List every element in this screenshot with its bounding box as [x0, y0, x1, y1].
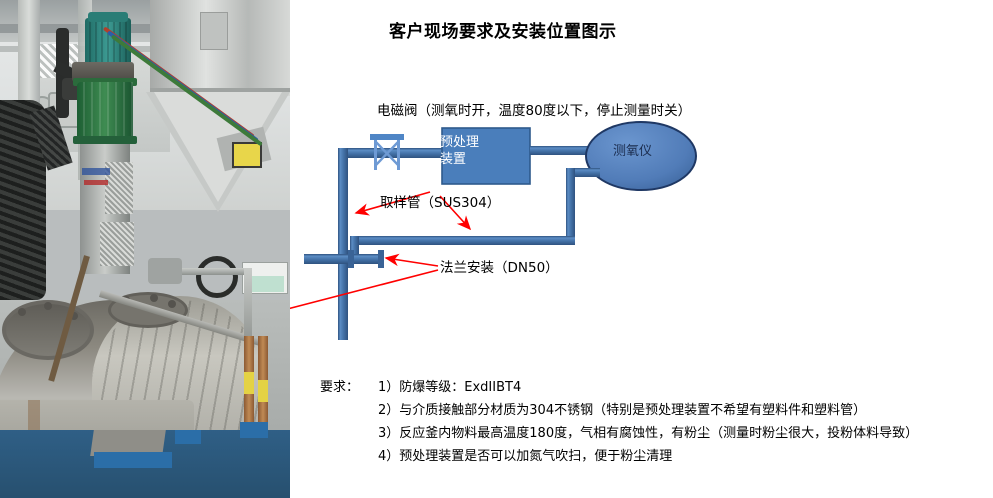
photo-hazard-tag [232, 142, 262, 168]
photo-motor-cap [88, 12, 128, 22]
photo-equipment-tag [82, 168, 110, 175]
photo-bolt [168, 300, 176, 308]
oxygen-analyzer-label: 测氧仪 [613, 140, 652, 159]
pretreatment-device-label: 预处理 装置 [440, 134, 510, 168]
sample-pipe-vertical [338, 148, 348, 340]
photo-small-pipe [182, 268, 252, 275]
photo-equipment-tag [84, 180, 108, 185]
photo-label-card [250, 276, 284, 292]
pipe-return-horizontal [350, 236, 575, 245]
requirements-heading: 要求： [320, 376, 359, 395]
pretreatment-label-line1: 预处理 [440, 134, 510, 151]
photo-gearbox-lip [73, 136, 137, 144]
pretreatment-label-line2: 装置 [440, 151, 510, 168]
flange-install-label: 法兰安装（DN50） [440, 256, 559, 276]
photo-blue-base [240, 422, 268, 438]
requirement-item: 3）反应釜内物料最高温度180度，气相有腐蚀性，有粉尘（测量时粉尘很大，投粉体料… [378, 422, 918, 445]
photo-level-gauge [258, 336, 268, 422]
photo-bolt [44, 302, 52, 310]
photo-blue-base [94, 452, 172, 468]
pipe-top-horizontal-2 [398, 148, 443, 158]
pipe-analyzer-return-vertical [566, 168, 575, 244]
requirement-item: 1）防爆等级：ExdIIBT4 [378, 376, 918, 399]
requirement-item: 2）与介质接触部分材质为304不锈钢（特别是预处理装置不希望有塑料件和塑料管） [378, 399, 918, 422]
photo-gauge-marker [244, 372, 254, 394]
photo-gearbox-bolts [77, 82, 133, 140]
requirement-item: 4）预处理装置是否可以加氮气吹扫，便于粉尘清理 [378, 445, 918, 468]
photo-gauge-marker [258, 380, 268, 402]
arrow-flange-short [386, 258, 438, 266]
sample-tube-label: 取样管（SUS304） [380, 191, 500, 211]
photo-handwheel [196, 256, 238, 298]
requirements-list: 1）防爆等级：ExdIIBT4 2）与介质接触部分材质为304不锈钢（特别是预处… [378, 376, 918, 468]
site-photo [0, 0, 290, 498]
photo-valve-body [148, 258, 182, 284]
solenoid-valve-symbol [370, 134, 404, 170]
photo-bolt [150, 294, 158, 302]
photo-blue-base [175, 430, 201, 444]
photo-bolt [18, 308, 26, 316]
arrow-flange-to-photo [290, 270, 438, 338]
photo-mesh-band [100, 222, 134, 266]
photo-hopper-plate [200, 12, 228, 50]
